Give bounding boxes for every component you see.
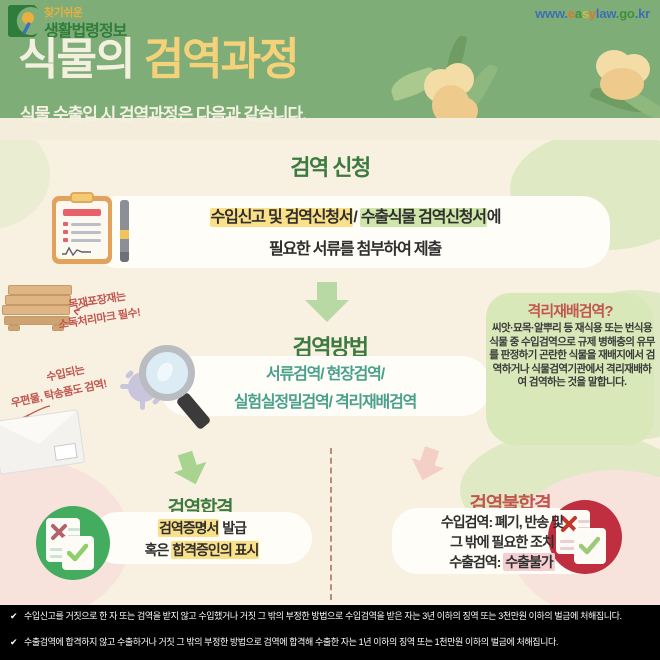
highlight-export-application: 수출식물 검역신청서 (360, 208, 487, 227)
highlight-export-banned: 수출불가 (503, 553, 555, 571)
site-logo[interactable]: 찾기쉬운 생활법령정보 (8, 3, 188, 39)
result-pass-line1: 검역증명서 발급 (92, 518, 312, 538)
highlight-import-declaration: 수입신고 및 검역신청서 (210, 208, 354, 227)
site-url[interactable]: www.easylaw.go.kr (535, 6, 650, 21)
pass-line2-head: 혹은 (145, 542, 172, 558)
clipboard-clamp (70, 192, 94, 203)
result-fail-line1: 수입검역: 폐기, 반송 및 (392, 512, 612, 532)
fail-line3-head: 수출검역: (449, 554, 503, 570)
infographic-page: 찾기쉬운 생활법령정보 www.easylaw.go.kr 식물의 검역과정 식… (0, 0, 660, 660)
result-fail-line3: 수출검역: 수출불가 (392, 552, 612, 572)
page-title: 식물의 검역과정 (18, 38, 298, 82)
clipboard-chart-icon (62, 245, 92, 257)
footer-item-2-text: 수출검역에 합격하지 않고 수출하거나 거짓 그 밖의 부정한 방법으로 검역에… (24, 636, 652, 649)
step-method-line1: 서류검역/ 현장검역/ (160, 360, 490, 384)
check-bullet-icon: ✔ (10, 636, 17, 649)
step-application-title: 검역 신청 (0, 150, 660, 182)
magnifier-logo-icon (8, 5, 42, 37)
pass-line1-tail: 발급 (219, 520, 246, 536)
step-method-line2: 실험실정밀검역/ 격리재배검역 (150, 388, 500, 412)
highlight-pass-stamp: 합격증인의 표시 (171, 541, 259, 559)
result-fail-line2: 그 밖에 필요한 조치 (392, 532, 612, 552)
envelope-stamp (54, 443, 78, 461)
step-application-line1: 수입신고 및 검역신청서/ 수출식물 검역신청서에 (105, 203, 605, 227)
clipboard-paper (56, 201, 108, 259)
page-subtitle: 식물 수출입 시 검역과정은 다음과 같습니다. (20, 100, 306, 125)
highlight-certificate: 검역증명서 (158, 519, 219, 537)
bubble-body: 씨앗·묘목·알뿌리 등 재식용 또는 번식용 식물 중 수입검역으로 규제 병해… (489, 322, 655, 390)
footer-item-1-text: 수입신고를 거짓으로 한 자 또는 검역을 받지 않고 수입했거나 거짓 그 밖… (24, 610, 652, 623)
step-application-line2: 필요한 서류를 첨부하여 제출 (105, 235, 605, 259)
line1-tail: 에 (487, 209, 501, 226)
page-title-accent: 검역과정 (144, 35, 298, 84)
result-pass-line2: 혹은 합격증인의 표시 (86, 540, 318, 560)
vertical-divider (330, 448, 332, 600)
bubble-title: 격리재배검역? (486, 300, 654, 321)
clipboard-icon (52, 196, 112, 264)
footer-disclaimer: ✔ 수입신고를 거짓으로 한 자 또는 검역을 받지 않고 수입했거나 거짓 그… (0, 605, 660, 660)
step-application: 검역 신청 (0, 150, 660, 182)
check-bullet-icon: ✔ (10, 610, 17, 623)
header-banner: 찾기쉬운 생활법령정보 www.easylaw.go.kr 식물의 검역과정 식… (0, 0, 660, 140)
page-title-plain: 식물의 (18, 35, 133, 84)
sep-slash: / (353, 209, 360, 226)
